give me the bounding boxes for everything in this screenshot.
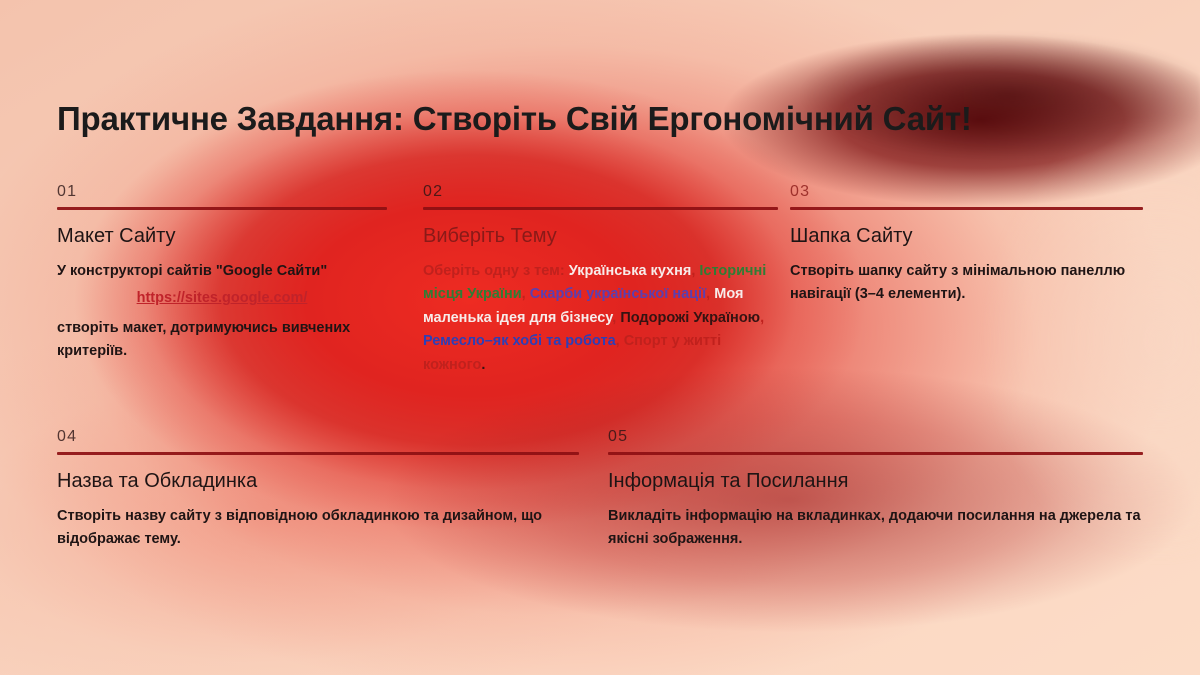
card-05: 05 Інформація та Посилання Викладіть інф… bbox=[608, 428, 1143, 552]
card-body: Створіть назву сайту з відповідною обкла… bbox=[57, 505, 579, 552]
theme-5: Подорожі Україною bbox=[620, 310, 760, 326]
themes-lead: Оберіть одну з тем: bbox=[423, 263, 565, 279]
card-heading: Виберіть Тему bbox=[423, 224, 778, 248]
slide-content: Практичне Завдання: Створіть Свій Ергоно… bbox=[0, 0, 1200, 675]
card-heading: Шапка Сайту bbox=[790, 224, 1143, 248]
card-divider bbox=[57, 207, 387, 210]
theme-3: Скарби української нації bbox=[530, 286, 706, 302]
card-number: 02 bbox=[423, 183, 778, 201]
card-03: 03 Шапка Сайту Створіть шапку сайту з мі… bbox=[790, 183, 1143, 307]
card-divider bbox=[423, 207, 778, 210]
card-body: У конструкторі сайтів "Google Сайти" htt… bbox=[57, 260, 387, 364]
theme-6: Ремесло–як хобі та робота bbox=[423, 333, 616, 349]
card-02: 02 Виберіть Тему Оберіть одну з тем: Укр… bbox=[423, 183, 778, 377]
card-body: Створіть шапку сайту з мінімальною панел… bbox=[790, 260, 1143, 307]
card-number: 05 bbox=[608, 428, 1143, 446]
card-number: 01 bbox=[57, 183, 387, 201]
card-body: Оберіть одну з тем: Українська кухня, Іс… bbox=[423, 260, 778, 377]
card-divider bbox=[608, 452, 1143, 455]
page-title: Практичне Завдання: Створіть Свій Ергоно… bbox=[57, 100, 972, 138]
card-04: 04 Назва та Обкладинка Створіть назву са… bbox=[57, 428, 579, 552]
card-body-lead: У конструкторі сайтів "Google Сайти" bbox=[57, 263, 327, 279]
card-divider bbox=[790, 207, 1143, 210]
card-heading: Назва та Обкладинка bbox=[57, 469, 579, 493]
card-01: 01 Макет Сайту У конструкторі сайтів "Go… bbox=[57, 183, 387, 364]
card-divider bbox=[57, 452, 579, 455]
card-body-tail: створіть макет, дотримуючись вивчених кр… bbox=[57, 320, 350, 359]
card-number: 03 bbox=[790, 183, 1143, 201]
card-heading: Макет Сайту bbox=[57, 224, 387, 248]
google-sites-link[interactable]: https://sites.google.com/ bbox=[57, 287, 387, 310]
card-number: 04 bbox=[57, 428, 579, 446]
card-heading: Інформація та Посилання bbox=[608, 469, 1143, 493]
card-body: Викладіть інформацію на вкладинках, дода… bbox=[608, 505, 1143, 552]
theme-1: Українська кухня bbox=[569, 263, 692, 279]
